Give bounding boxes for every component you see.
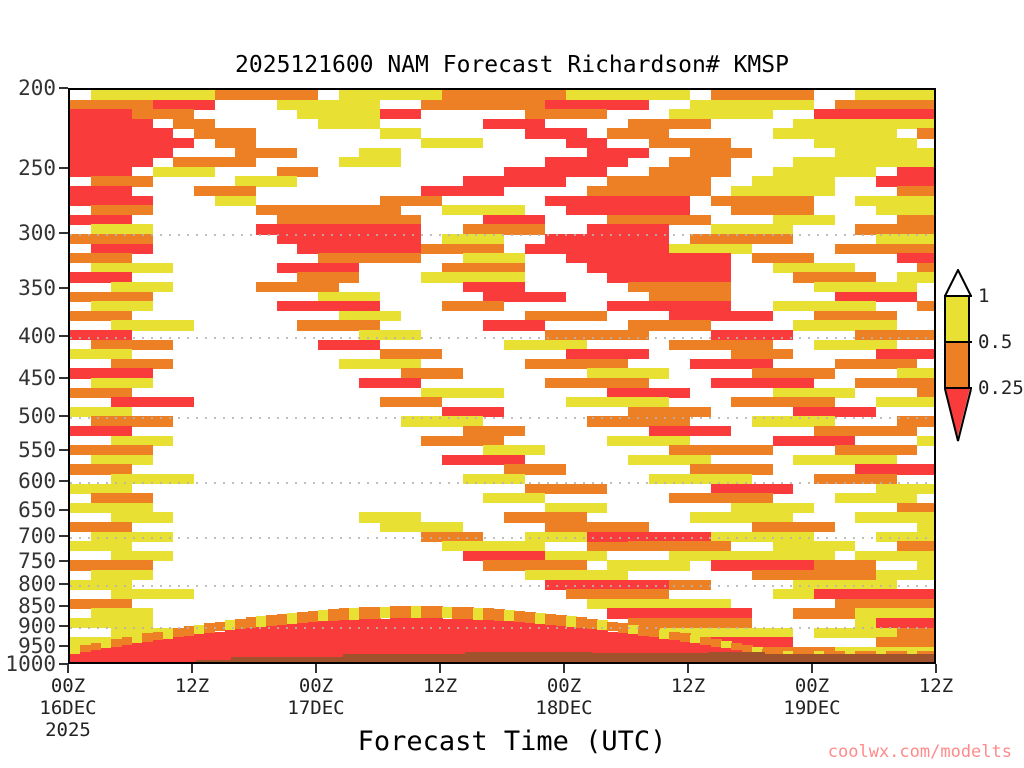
x-tick-label: 00Z17DEC <box>266 676 366 720</box>
x-tick-mark <box>439 664 441 673</box>
terrain-step <box>591 653 709 664</box>
x-tick-label: 12Z <box>142 676 242 698</box>
y-tick-label: 350 <box>0 278 56 299</box>
y-tick-label: 500 <box>0 406 56 427</box>
y-tick-mark <box>59 480 68 482</box>
terrain-step <box>708 652 765 664</box>
colorbar-tick <box>944 341 972 343</box>
y-tick-mark <box>59 583 68 585</box>
chart-root: 2025121600 NAM Forecast Richardson# KMSP… <box>0 0 1024 768</box>
terrain-step <box>465 652 592 664</box>
y-tick-label: 600 <box>0 471 56 492</box>
y-tick-mark <box>59 335 68 337</box>
y-tick-mark <box>59 645 68 647</box>
x-tick-label: 00Z18DEC <box>514 676 614 720</box>
terrain-step <box>343 654 466 664</box>
y-tick-mark <box>59 232 68 234</box>
y-tick-mark <box>59 377 68 379</box>
y-tick-label: 800 <box>0 574 56 595</box>
x-tick-mark <box>687 664 689 673</box>
terrain-step <box>764 654 936 664</box>
y-tick-mark <box>59 560 68 562</box>
y-tick-mark <box>59 287 68 289</box>
watermark: coolwx.com/modelts <box>828 742 1012 762</box>
y-tick-label: 400 <box>0 326 56 347</box>
colorbar-label: 0.5 <box>978 333 1012 352</box>
y-tick-label: 750 <box>0 551 56 572</box>
terrain-step <box>196 660 232 664</box>
colorbar-label: 0.25 <box>978 379 1024 398</box>
x-tick-label: 00Z19DEC <box>762 676 862 720</box>
colorbar-cap-top-outline <box>944 269 972 297</box>
y-tick-mark <box>59 535 68 537</box>
y-tick-label: 550 <box>0 440 56 461</box>
colorbar-legend: 10.50.25 <box>944 296 972 484</box>
y-tick-label: 300 <box>0 223 56 244</box>
x-tick-mark <box>935 664 937 673</box>
terrain-fill <box>70 90 934 662</box>
y-tick-label: 200 <box>0 78 56 99</box>
colorbar-tick <box>944 295 972 297</box>
colorbar-tick <box>944 387 972 389</box>
y-tick-mark <box>59 509 68 511</box>
plot-area <box>68 88 936 664</box>
y-tick-label: 1000 <box>0 654 56 675</box>
y-tick-mark <box>59 625 68 627</box>
y-tick-mark <box>59 415 68 417</box>
chart-title: 2025121600 NAM Forecast Richardson# KMSP <box>0 52 1024 78</box>
y-tick-label: 650 <box>0 500 56 521</box>
colorbar-band-orange <box>944 342 970 388</box>
x-tick-label: 12Z <box>390 676 490 698</box>
y-tick-label: 700 <box>0 526 56 547</box>
y-tick-mark <box>59 167 68 169</box>
x-tick-mark <box>315 664 317 673</box>
colorbar-label: 1 <box>978 287 989 306</box>
x-tick-mark <box>191 664 193 673</box>
x-tick-mark <box>563 664 565 673</box>
x-tick-mark <box>811 664 813 673</box>
y-tick-mark <box>59 605 68 607</box>
x-tick-label: 12Z <box>886 676 986 698</box>
x-tick-mark <box>67 664 69 673</box>
y-tick-mark <box>59 449 68 451</box>
x-tick-label: 00Z16DEC2025 <box>18 676 118 742</box>
x-tick-label: 12Z <box>638 676 738 698</box>
y-tick-label: 450 <box>0 368 56 389</box>
y-tick-label: 250 <box>0 158 56 179</box>
terrain-step <box>231 657 345 664</box>
colorbar-band-yellow <box>944 296 970 342</box>
y-tick-mark <box>59 87 68 89</box>
colorbar-cap-bottom-outline <box>944 388 972 442</box>
